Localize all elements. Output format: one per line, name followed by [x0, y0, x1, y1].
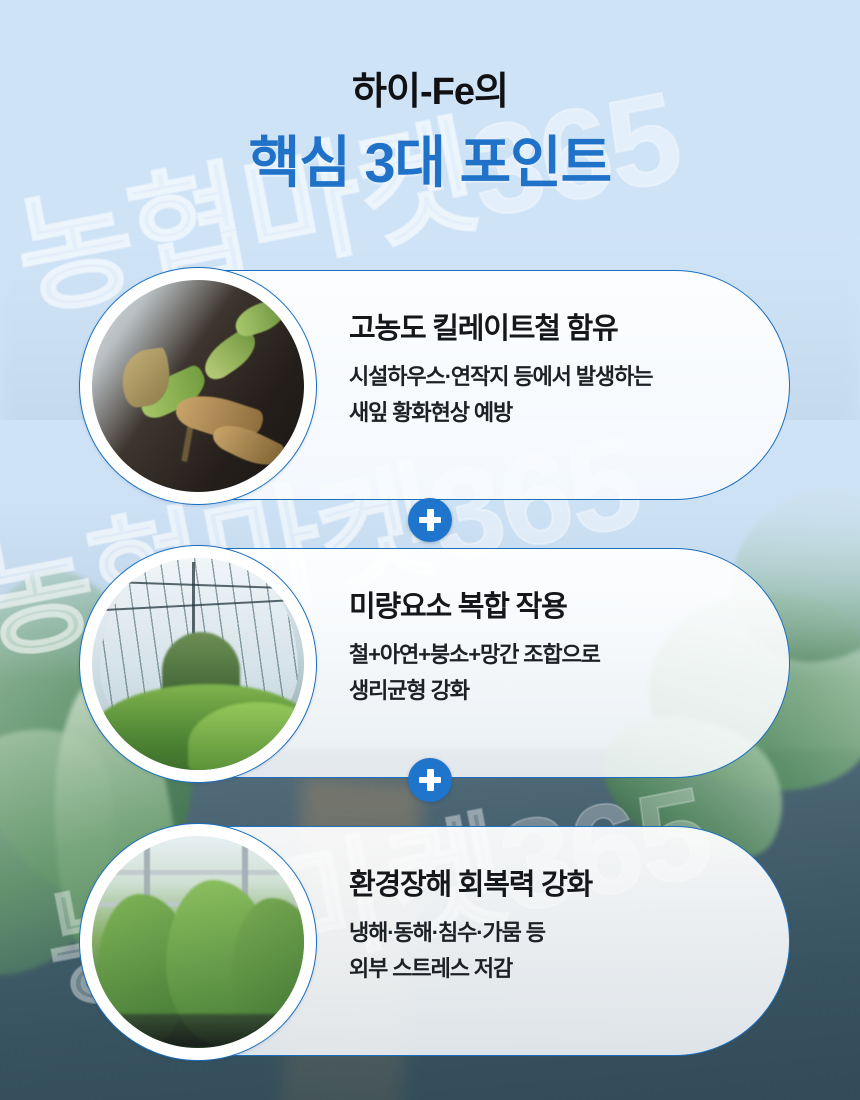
point-card-1-body: 시설하우스·연작지 등에서 발생하는 새잎 황화현상 예방 — [349, 359, 743, 430]
point-card-3-text: 환경장해 회복력 강화 냉해·동해·침수·가뭄 등 외부 스트레스 저감 — [349, 867, 743, 987]
point-card-1-body-line-1: 시설하우스·연작지 등에서 발생하는 — [349, 359, 743, 395]
point-card-3-thumbnail — [79, 823, 317, 1061]
point-card-2-thumbnail — [79, 545, 317, 783]
point-card-1-title: 고농도 킬레이트철 함유 — [349, 311, 743, 347]
plus-connector-1 — [408, 498, 452, 542]
poster-header: 하이-Fe의 핵심 3대 포인트 — [0, 0, 860, 195]
plus-icon — [418, 768, 442, 792]
infographic-poster: 농협마켓365 농협마켓365 농협마켓365 하이-Fe의 핵심 3대 포인트 — [0, 0, 860, 1100]
point-card-2-body-line-2: 생리균형 강화 — [349, 673, 743, 709]
point-card-3-body-line-1: 냉해·동해·침수·가뭄 등 — [349, 915, 743, 951]
point-card-2-title: 미량요소 복합 작용 — [349, 589, 743, 625]
page-title: 핵심 3대 포인트 — [0, 132, 860, 195]
point-card-1: 고농도 킬레이트철 함유 시설하우스·연작지 등에서 발생하는 새잎 황화현상 … — [80, 270, 790, 500]
point-card-3-body-line-2: 외부 스트레스 저감 — [349, 951, 743, 987]
point-card-1-text: 고농도 킬레이트철 함유 시설하우스·연작지 등에서 발생하는 새잎 황화현상 … — [349, 311, 743, 431]
plus-icon — [418, 508, 442, 532]
greenhouse-tunnel-photo — [92, 558, 304, 770]
point-card-1-body-line-2: 새잎 황화현상 예방 — [349, 395, 743, 431]
point-card-2-body: 철+아연+붕소+망간 조합으로 생리균형 강화 — [349, 637, 743, 708]
plus-connector-2 — [408, 758, 452, 802]
tomato-rows-photo — [92, 836, 304, 1048]
new-shoot-photo — [92, 280, 304, 492]
point-card-2: 미량요소 복합 작용 철+아연+붕소+망간 조합으로 생리균형 강화 — [80, 548, 790, 778]
point-card-3: 환경장해 회복력 강화 냉해·동해·침수·가뭄 등 외부 스트레스 저감 — [80, 826, 790, 1056]
point-card-2-text: 미량요소 복합 작용 철+아연+붕소+망간 조합으로 생리균형 강화 — [349, 589, 743, 709]
point-card-3-body: 냉해·동해·침수·가뭄 등 외부 스트레스 저감 — [349, 915, 743, 986]
point-card-3-title: 환경장해 회복력 강화 — [349, 867, 743, 903]
point-card-2-body-line-1: 철+아연+붕소+망간 조합으로 — [349, 637, 743, 673]
point-card-1-thumbnail — [79, 267, 317, 505]
header-eyebrow: 하이-Fe의 — [0, 72, 860, 114]
